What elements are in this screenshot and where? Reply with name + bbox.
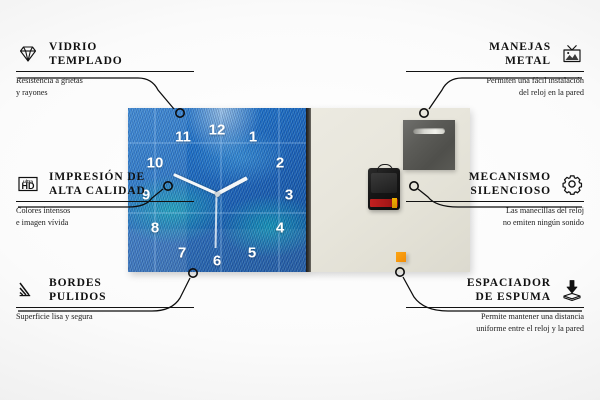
clock-numeral-7: 7 [178,246,186,261]
feature-description: Resistencia a grietas y rayones [16,72,194,98]
mechanism-body [371,173,397,193]
print-grid-line [128,142,310,144]
feature-title: MANEJAS METAL [489,40,551,68]
metal-hanger-plate [403,120,455,170]
ultra-hd-icon-main-text: HD [22,181,35,191]
feature-title: ESPACIADOR DE ESPUMA [467,276,551,304]
feature-description: Las manecillas del reloj no emiten ningú… [406,202,584,228]
print-grid-line [278,108,280,272]
foam-spacer-icon [560,278,584,302]
clock-numeral-11: 11 [175,130,191,145]
picture-hanger-icon [560,42,584,66]
feature-description: Permiten una fácil instalación del reloj… [406,72,584,98]
hanger-slot [413,128,445,134]
feature-title: IMPRESIÓN DE ALTA CALIDAD [49,170,146,198]
feature-heading: ESPACIADOR DE ESPUMA [406,276,584,307]
feature-foam-spacer[interactable]: ESPACIADOR DE ESPUMA Permite mantener un… [406,276,584,335]
feature-heading: ultra HD IMPRESIÓN DE ALTA CALIDAD [16,170,194,201]
gear-icon [560,172,584,196]
feature-description: Permite mantener una distancia uniforme … [406,308,584,334]
mechanism-hook [377,164,393,172]
clock-numeral-10: 10 [147,156,164,171]
mechanism-tag [392,198,397,208]
clock-second-hand [215,194,217,248]
feature-heading: MANEJAS METAL [406,40,584,71]
clock-numeral-12: 12 [209,123,226,138]
clock-numeral-5: 5 [248,246,256,261]
silent-clock-mechanism [368,168,400,210]
feature-polished-edges[interactable]: BORDES PULIDOS Superficie lisa y segura [16,276,194,323]
feature-heading: MECANISMO SILENCIOSO [406,170,584,201]
feature-tempered-glass[interactable]: VIDRIO TEMPLADO Resistencia a grietas y … [16,40,194,99]
clock-numeral-6: 6 [213,254,221,269]
feature-metal-hangers[interactable]: MANEJAS METAL Permiten una fácil instala… [406,40,584,99]
polished-edges-icon [16,278,40,302]
ultra-hd-icon: ultra HD [16,172,40,196]
feature-high-quality-print[interactable]: ultra HD IMPRESIÓN DE ALTA CALIDAD Color… [16,170,194,229]
feature-title: BORDES PULIDOS [49,276,106,304]
feature-title: VIDRIO TEMPLADO [49,40,123,68]
clock-numeral-2: 2 [276,156,284,171]
feature-silent-mechanism[interactable]: MECANISMO SILENCIOSO Las manecillas del … [406,170,584,229]
foam-spacer [396,252,406,262]
clock-hand-cap [215,192,220,197]
infographic-canvas: 12 1 2 3 4 5 6 7 8 9 10 11 [0,0,600,400]
clock-numeral-1: 1 [249,130,257,145]
feature-heading: BORDES PULIDOS [16,276,194,307]
feature-heading: VIDRIO TEMPLADO [16,40,194,71]
diamond-icon [16,42,40,66]
feature-description: Superficie lisa y segura [16,308,194,323]
clock-numeral-4: 4 [276,221,284,236]
clock-side-edge [306,108,311,272]
clock-numeral-3: 3 [285,188,293,203]
feature-description: Colores intensos e imagen vívida [16,202,194,228]
feature-title: MECANISMO SILENCIOSO [469,170,551,198]
